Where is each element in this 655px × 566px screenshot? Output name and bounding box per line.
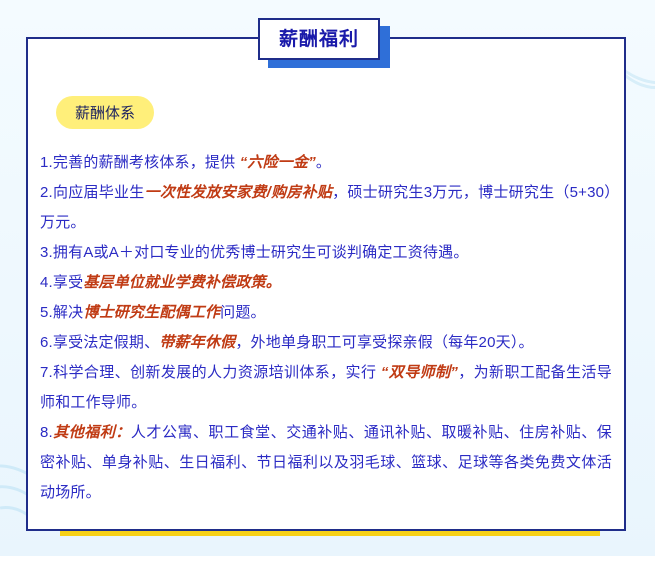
benefit-emphasis-text: 带薪年休假 (159, 334, 235, 351)
benefit-emphasis-text: 博士研究生配偶工作 (83, 304, 220, 321)
benefit-text: 解决 (53, 304, 83, 321)
benefit-text: ，外地单身职工可享受探亲假（每年20天）。 (235, 334, 533, 351)
benefit-item: 5.解决博士研究生配偶工作问题。 (40, 298, 612, 328)
benefit-item: 3.拥有A或A＋对口专业的优秀博士研究生可谈判确定工资待遇。 (40, 238, 612, 268)
benefit-emphasis-text: 基层单位就业学费补偿政策。 (83, 274, 281, 291)
benefit-item: 2.向应届毕业生一次性发放安家费/购房补贴，硕士研究生3万元，博士研究生（5+3… (40, 178, 612, 238)
benefit-item: 8.其他福利：人才公寓、职工食堂、交通补贴、通讯补贴、取暖补贴、住房补贴、保密补… (40, 418, 612, 508)
benefit-emphasis-text: 其他福利： (53, 424, 131, 441)
section-badge-label: 薪酬体系 (75, 102, 135, 123)
benefit-text: 享受 (53, 274, 83, 291)
benefit-text: 科学合理、创新发展的人力资源培训体系，实行 (53, 364, 381, 381)
benefit-item: 7.科学合理、创新发展的人力资源培训体系，实行 “双导师制”，为新职工配备生活导… (40, 358, 612, 418)
page-title-box: 薪酬福利 (258, 18, 380, 60)
benefit-text: 享受法定假期、 (53, 334, 159, 351)
benefit-item: 6.享受法定假期、带薪年休假，外地单身职工可享受探亲假（每年20天）。 (40, 328, 612, 358)
benefit-item-number: 6. (40, 334, 53, 351)
benefit-text: 拥有A或A＋对口专业的优秀博士研究生可谈判确定工资待遇。 (53, 244, 469, 261)
benefit-item-number: 3. (40, 244, 53, 261)
benefit-item-number: 4. (40, 274, 53, 291)
benefits-list: 1.完善的薪酬考核体系，提供 “六险一金”。2.向应届毕业生一次性发放安家费/购… (40, 148, 612, 508)
benefit-emphasis-text: “双导师制” (381, 364, 458, 381)
benefit-emphasis-text: 一次性发放安家费/购房补贴 (145, 184, 333, 201)
benefit-item: 4.享受基层单位就业学费补偿政策。 (40, 268, 612, 298)
benefit-item-number: 1. (40, 154, 53, 171)
benefit-text: 问题。 (220, 304, 266, 321)
benefit-text: 向应届毕业生 (53, 184, 145, 201)
page-title: 薪酬福利 (279, 30, 359, 49)
section-badge: 薪酬体系 (56, 96, 154, 129)
benefit-item-number: 8. (40, 424, 53, 441)
benefit-item-number: 2. (40, 184, 53, 201)
benefit-item: 1.完善的薪酬考核体系，提供 “六险一金”。 (40, 148, 612, 178)
benefit-item-number: 5. (40, 304, 53, 321)
benefit-emphasis-text: “六险一金” (240, 154, 316, 171)
benefit-item-number: 7. (40, 364, 53, 381)
benefit-text: 完善的薪酬考核体系，提供 (53, 154, 240, 171)
benefit-text: 。 (316, 154, 331, 171)
